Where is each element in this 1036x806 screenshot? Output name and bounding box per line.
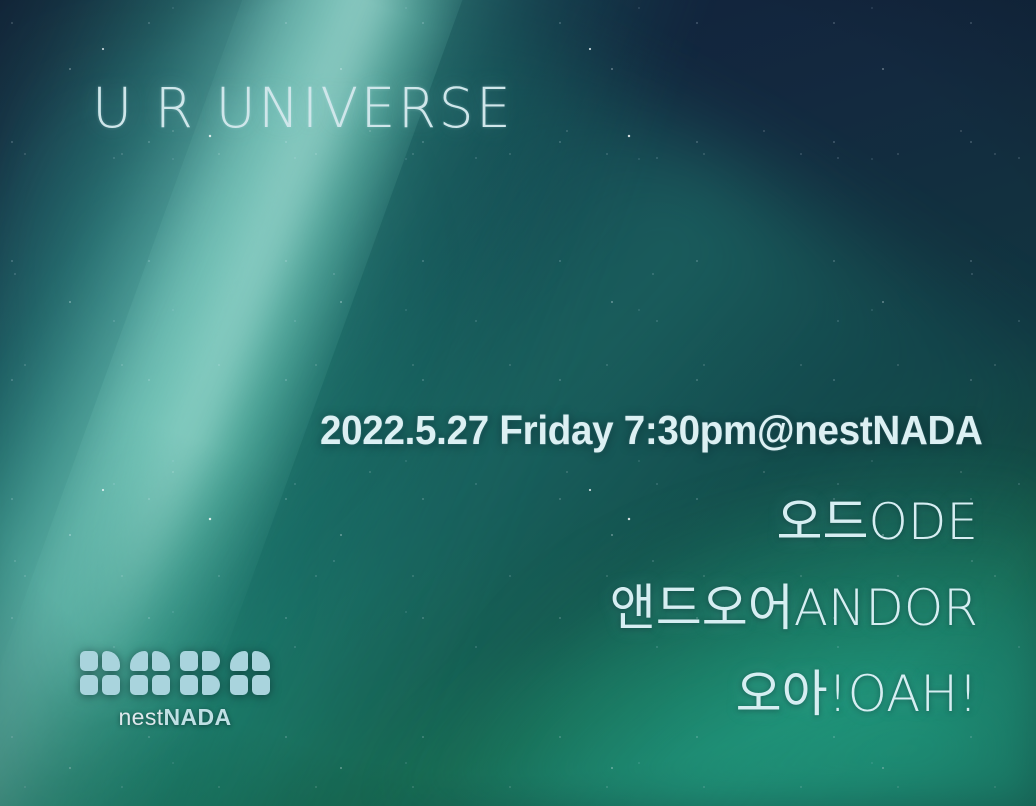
logo-tile bbox=[152, 651, 170, 671]
logo-tile bbox=[180, 675, 198, 695]
logo-wordmark-nest: nest bbox=[118, 704, 163, 730]
logo-tile bbox=[202, 651, 220, 671]
logo-tile bbox=[152, 675, 170, 695]
nada-tile-logo-icon bbox=[80, 651, 270, 695]
logo-letter-n bbox=[80, 651, 120, 695]
logo-wordmark: nestNADA bbox=[80, 704, 270, 731]
event-info-block: 2022.5.27 Friday 7:30pm@nestNADA 오드ODE 앤… bbox=[278, 408, 978, 721]
logo-tile bbox=[130, 675, 148, 695]
logo-wordmark-nada: NADA bbox=[164, 704, 232, 730]
logo-tile bbox=[102, 651, 120, 671]
logo-tile bbox=[202, 675, 220, 695]
logo-tile bbox=[252, 651, 270, 671]
logo-tile bbox=[180, 651, 198, 671]
logo-tile bbox=[80, 651, 98, 671]
lineup-item-ode: 오드ODE bbox=[278, 496, 978, 549]
logo-letter-a-second bbox=[230, 651, 270, 695]
nestnada-logo: nestNADA bbox=[80, 651, 270, 731]
logo-tile bbox=[252, 675, 270, 695]
poster-title: U R UNIVERSE bbox=[92, 76, 513, 140]
logo-tile bbox=[80, 675, 98, 695]
poster-content: U R UNIVERSE 2022.5.27 Friday 7:30pm@nes… bbox=[0, 0, 1036, 806]
logo-letter-d bbox=[180, 651, 220, 695]
logo-tile bbox=[130, 651, 148, 671]
event-poster: U R UNIVERSE 2022.5.27 Friday 7:30pm@nes… bbox=[0, 0, 1036, 806]
logo-tile bbox=[230, 675, 248, 695]
lineup-item-oah: 오아!OAH! bbox=[278, 668, 978, 721]
logo-tile bbox=[102, 675, 120, 695]
event-datetime: 2022.5.27 Friday 7:30pm@nestNADA bbox=[320, 408, 978, 454]
lineup-item-andor: 앤드오어ANDOR bbox=[278, 582, 978, 635]
logo-tile bbox=[230, 651, 248, 671]
logo-letter-a-first bbox=[130, 651, 170, 695]
